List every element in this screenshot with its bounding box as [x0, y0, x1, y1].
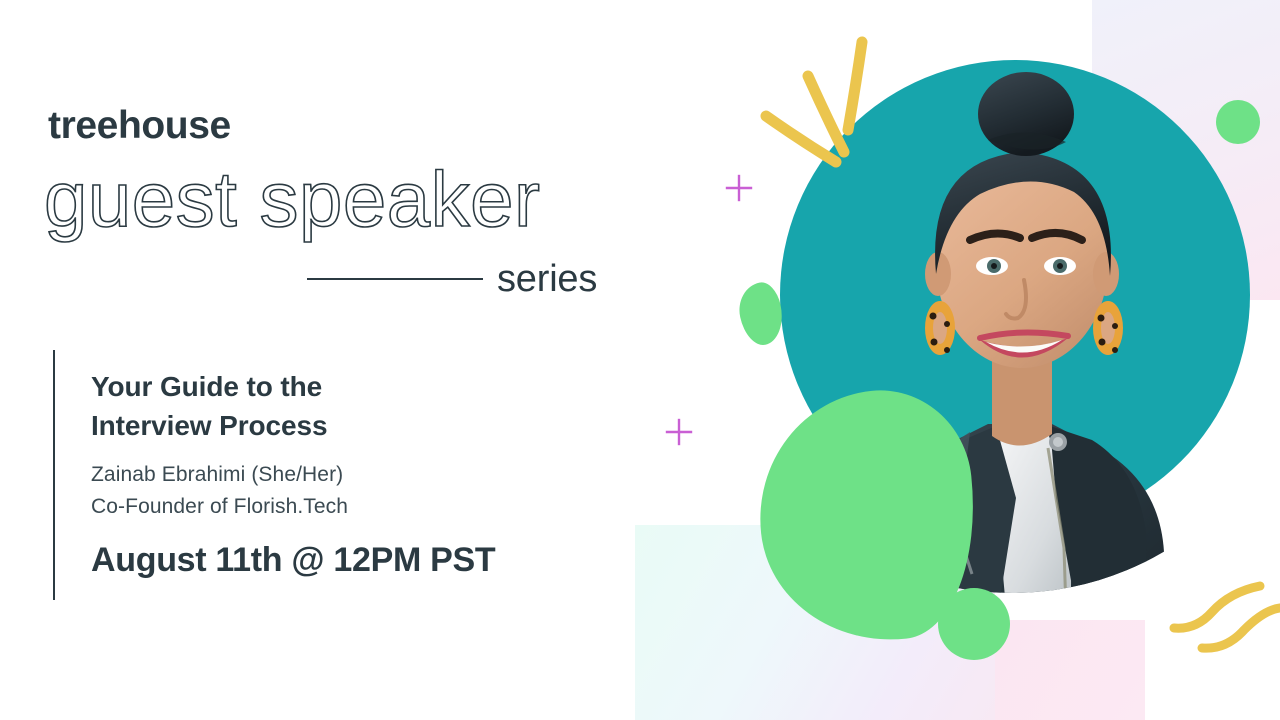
talk-title: Your Guide to the Interview Process — [91, 368, 631, 445]
event-datetime: August 11th @ 12PM PST — [91, 540, 631, 581]
green-circle-bottom — [938, 588, 1010, 660]
vertical-accent-rule — [53, 350, 55, 600]
series-label: series — [497, 260, 597, 298]
series-divider-rule — [307, 278, 483, 280]
treehouse-wordmark: treehouse — [48, 106, 231, 145]
guest-speaker-headline: guest speaker — [44, 160, 540, 238]
yellow-squiggle-lines-icon — [1168, 572, 1280, 662]
speaker-name: Zainab Ebrahimi (She/Her) — [91, 459, 631, 491]
slide-canvas: treehouse guest speaker series Your Guid… — [0, 0, 1280, 720]
series-row: series — [307, 256, 627, 302]
yellow-dash-burst-icon — [744, 30, 884, 170]
event-details-block: Your Guide to the Interview Process Zain… — [91, 368, 631, 581]
magenta-plus-top-icon — [725, 174, 753, 202]
green-circle-top — [1216, 100, 1260, 144]
magenta-plus-middle-icon — [665, 418, 693, 446]
speaker-role: Co-Founder of Florish.Tech — [91, 491, 631, 523]
